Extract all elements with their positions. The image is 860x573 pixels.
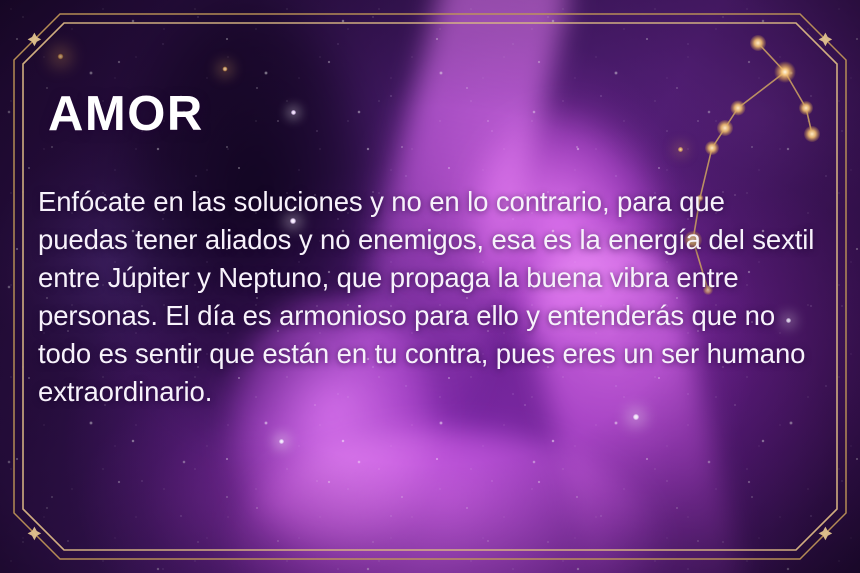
- silhouette-body: [230, 430, 660, 573]
- sparkle-icon: [819, 33, 833, 47]
- section-title: AMOR: [48, 90, 828, 139]
- bright-star-white-3: [279, 439, 284, 444]
- bright-star-white-4: [633, 414, 639, 420]
- constellation-star: [750, 35, 766, 51]
- bright-star-amber-1: [57, 53, 64, 60]
- horoscope-card: AMOR Enfócate en las soluciones y no en …: [0, 0, 860, 573]
- sparkle-icon: [28, 527, 42, 541]
- horoscope-body-text: Enfócate en las soluciones y no en lo co…: [38, 183, 820, 411]
- constellation-star: [774, 61, 796, 83]
- sparkle-icon: [819, 527, 833, 541]
- sparkle-icon: [28, 33, 42, 47]
- bright-star-amber-2: [222, 66, 228, 72]
- card-content: AMOR Enfócate en las soluciones y no en …: [38, 90, 828, 411]
